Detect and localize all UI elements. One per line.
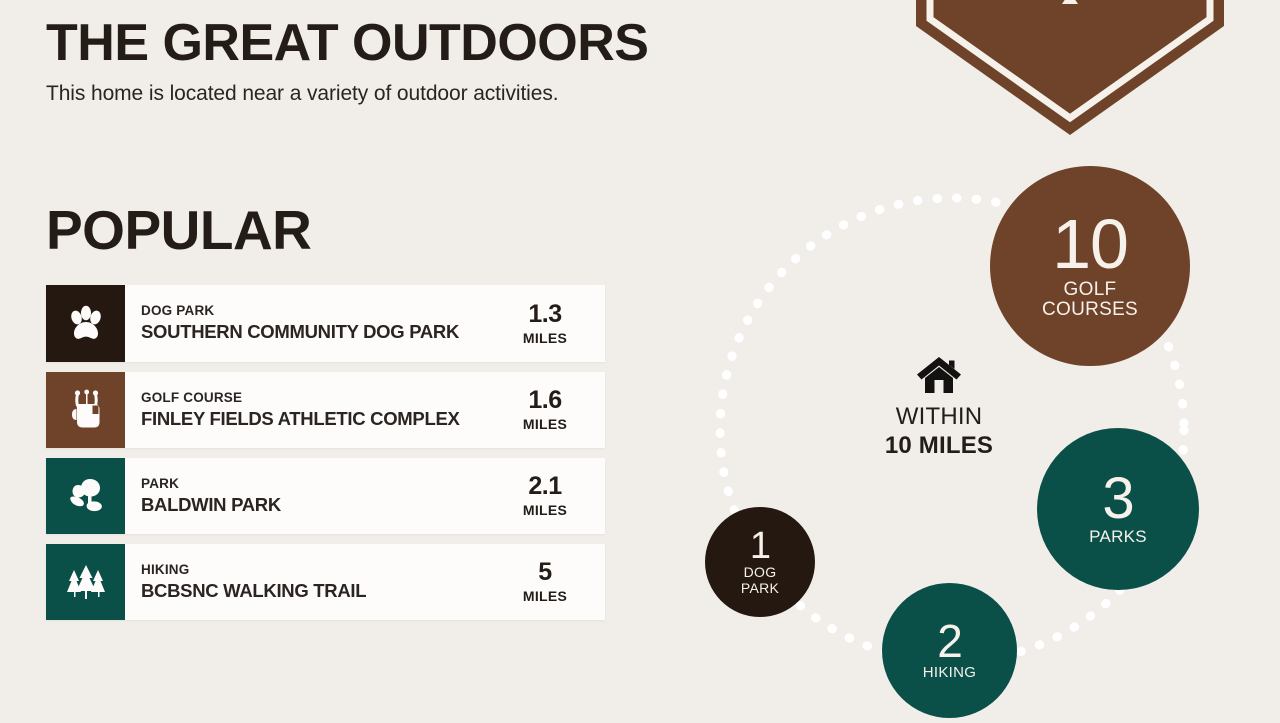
shield-badge-graphic: [916, 0, 1224, 135]
stat-label-line2: COURSES: [1042, 299, 1138, 320]
poi-text: DOG PARK SOUTHERN COMMUNITY DOG PARK: [125, 285, 499, 362]
poi-category: HIKING: [141, 562, 491, 579]
poi-icon-tile: [46, 458, 125, 534]
poi-distance: 1.3 MILES: [499, 285, 605, 362]
stat-bubble-dog-park[interactable]: 1 DOG PARK: [705, 507, 815, 617]
stat-count: 2: [937, 620, 962, 664]
list-item[interactable]: GOLF COURSE FINLEY FIELDS ATHLETIC COMPL…: [46, 372, 605, 448]
within-10-miles-diagram: 10 GOLF COURSES 3 PARKS 1 DOG PARK 2 HIK…: [660, 140, 1280, 723]
poi-icon-tile: [46, 285, 125, 362]
poi-distance-value: 5: [538, 560, 551, 585]
golf-bag-icon: [65, 388, 107, 432]
stat-count: 10: [1052, 211, 1128, 278]
poi-text: PARK BALDWIN PARK: [125, 458, 499, 534]
header: THE GREAT OUTDOORS This home is located …: [46, 14, 886, 106]
poi-distance-unit: MILES: [523, 330, 567, 346]
poi-distance-unit: MILES: [523, 588, 567, 604]
stat-count: 1: [750, 528, 770, 564]
within-label-line1: WITHIN: [896, 403, 983, 431]
stat-bubble-golf-courses[interactable]: 10 GOLF COURSES: [990, 166, 1190, 366]
poi-distance: 1.6 MILES: [499, 372, 605, 448]
stat-label-line2: PARK: [741, 580, 779, 596]
stat-label: HIKING: [923, 665, 976, 681]
poi-name: FINLEY FIELDS ATHLETIC COMPLEX: [141, 408, 491, 430]
park-tree-icon: [64, 475, 108, 517]
poi-name: BALDWIN PARK: [141, 494, 491, 516]
poi-distance-value: 1.3: [528, 302, 561, 327]
poi-text: HIKING BCBSNC WALKING TRAIL: [125, 544, 499, 620]
poi-distance-value: 1.6: [528, 388, 561, 413]
page-title: THE GREAT OUTDOORS: [46, 14, 886, 72]
pine-trees-icon: [63, 561, 109, 603]
poi-icon-tile: [46, 372, 125, 448]
poi-category: PARK: [141, 476, 491, 493]
stat-bubble-hiking[interactable]: 2 HIKING: [882, 583, 1017, 718]
poi-text: GOLF COURSE FINLEY FIELDS ATHLETIC COMPL…: [125, 372, 499, 448]
list-item[interactable]: HIKING BCBSNC WALKING TRAIL 5 MILES: [46, 544, 605, 620]
list-item[interactable]: PARK BALDWIN PARK 2.1 MILES: [46, 458, 605, 534]
stat-label-line1: DOG: [744, 564, 777, 580]
paw-print-icon: [65, 303, 107, 345]
stat-label-line1: GOLF: [1064, 279, 1117, 300]
poi-category: DOG PARK: [141, 303, 491, 320]
stat-label: DOG PARK: [741, 565, 779, 595]
popular-list: DOG PARK SOUTHERN COMMUNITY DOG PARK 1.3…: [46, 285, 605, 630]
poi-distance: 5 MILES: [499, 544, 605, 620]
center-home-marker: WITHIN 10 MILES: [864, 355, 1014, 460]
poi-distance-unit: MILES: [523, 502, 567, 518]
stat-count: 3: [1102, 471, 1133, 526]
popular-heading: POPULAR: [46, 198, 311, 262]
poi-name: BCBSNC WALKING TRAIL: [141, 580, 491, 602]
stat-label: GOLF COURSES: [1042, 280, 1138, 321]
page-subtitle: This home is located near a variety of o…: [46, 82, 886, 106]
list-item[interactable]: DOG PARK SOUTHERN COMMUNITY DOG PARK 1.3…: [46, 285, 605, 362]
poi-name: SOUTHERN COMMUNITY DOG PARK: [141, 321, 491, 343]
poi-icon-tile: [46, 544, 125, 620]
home-icon: [916, 355, 962, 395]
stat-bubble-parks[interactable]: 3 PARKS: [1037, 428, 1199, 590]
stat-label: PARKS: [1089, 528, 1147, 546]
poi-distance-value: 2.1: [528, 474, 561, 499]
poi-category: GOLF COURSE: [141, 390, 491, 407]
poi-distance: 2.1 MILES: [499, 458, 605, 534]
within-label-line2: 10 MILES: [885, 432, 993, 460]
shield-badge: [916, 0, 1224, 135]
poi-distance-unit: MILES: [523, 416, 567, 432]
